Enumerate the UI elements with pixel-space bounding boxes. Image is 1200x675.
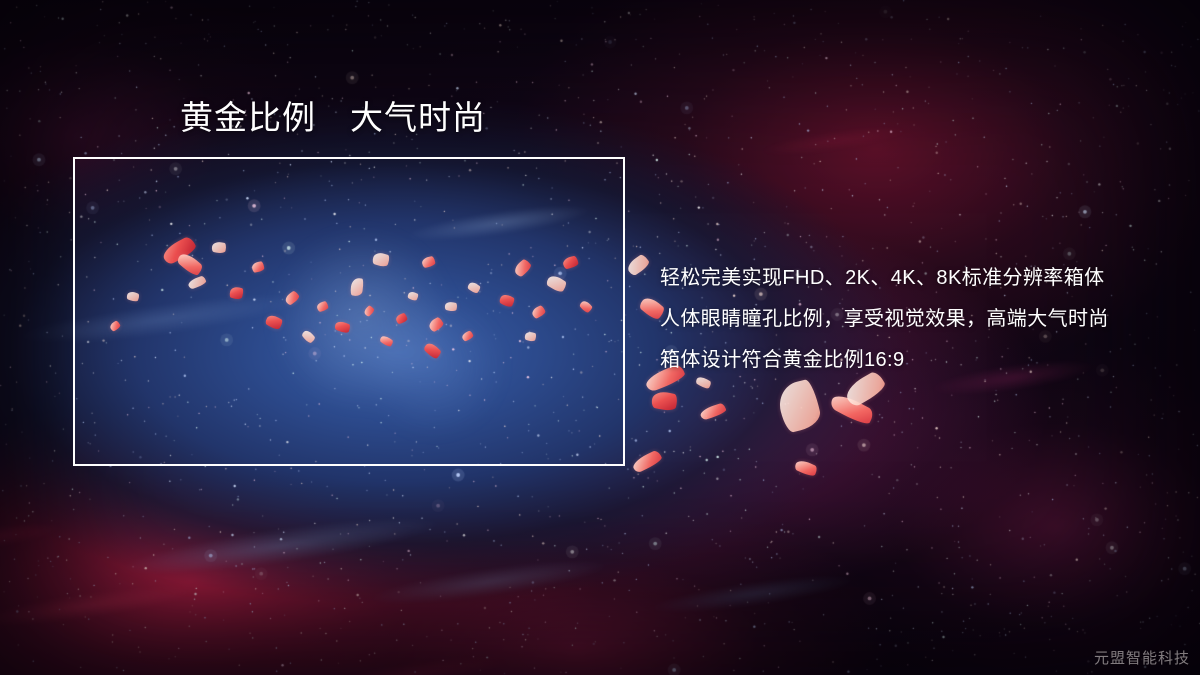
petal bbox=[562, 255, 579, 269]
body-text-block: 轻松完美实现FHD、2K、4K、8K标准分辨率箱体 人体眼睛瞳孔比例，享受视觉效… bbox=[660, 258, 1170, 381]
petal bbox=[109, 320, 122, 332]
petal bbox=[631, 449, 664, 474]
petal bbox=[176, 250, 205, 277]
petal bbox=[379, 334, 394, 348]
panel-flower-petals bbox=[73, 157, 625, 466]
petal bbox=[512, 258, 533, 278]
body-line-2: 人体眼睛瞳孔比例，享受视觉效果，高端大气时尚 bbox=[660, 299, 1170, 340]
petal bbox=[579, 299, 594, 314]
petal bbox=[211, 241, 227, 254]
petal bbox=[524, 331, 537, 343]
petal bbox=[650, 390, 678, 413]
petal bbox=[187, 275, 207, 290]
petal bbox=[828, 391, 875, 428]
panel-core-glow bbox=[73, 157, 625, 466]
petal bbox=[407, 290, 419, 302]
petal bbox=[461, 330, 474, 342]
petal bbox=[625, 253, 651, 277]
petal bbox=[545, 273, 568, 294]
petal bbox=[421, 256, 436, 268]
body-line-1: 轻松完美实现FHD、2K、4K、8K标准分辨率箱体 bbox=[660, 258, 1170, 299]
display-frame-panel bbox=[73, 157, 625, 466]
petal bbox=[371, 251, 390, 268]
petal bbox=[444, 301, 458, 312]
petal bbox=[427, 316, 445, 333]
petal bbox=[530, 305, 546, 320]
petal bbox=[264, 313, 284, 331]
panel-starfield bbox=[73, 157, 625, 466]
petal bbox=[229, 286, 245, 301]
petal bbox=[794, 458, 819, 478]
petal bbox=[423, 341, 443, 361]
panel-nebula-filaments bbox=[73, 157, 625, 466]
page-title: 黄金比例 大气时尚 bbox=[180, 100, 486, 136]
petal bbox=[363, 305, 376, 318]
petal bbox=[316, 301, 329, 313]
watermark-label: 元盟智能科技 bbox=[1094, 647, 1190, 668]
body-line-3: 箱体设计符合黄金比例16:9 bbox=[660, 340, 1170, 381]
petal bbox=[775, 378, 823, 434]
panel-nebula-background bbox=[73, 157, 625, 466]
petal bbox=[301, 329, 316, 345]
petal bbox=[251, 261, 265, 273]
petal bbox=[334, 320, 352, 335]
petal bbox=[498, 292, 516, 308]
petal bbox=[126, 290, 140, 303]
petal bbox=[160, 235, 198, 266]
petal bbox=[395, 313, 408, 325]
petal bbox=[350, 277, 364, 296]
petal bbox=[699, 402, 727, 420]
petal bbox=[283, 290, 300, 306]
panel-image-crop bbox=[73, 157, 625, 466]
petal bbox=[467, 280, 482, 294]
slide-canvas: 黄金比例 大气时尚 轻松完美实现FHD、2K、4K、8K标准分辨率箱体 人体眼睛… bbox=[0, 0, 1200, 675]
